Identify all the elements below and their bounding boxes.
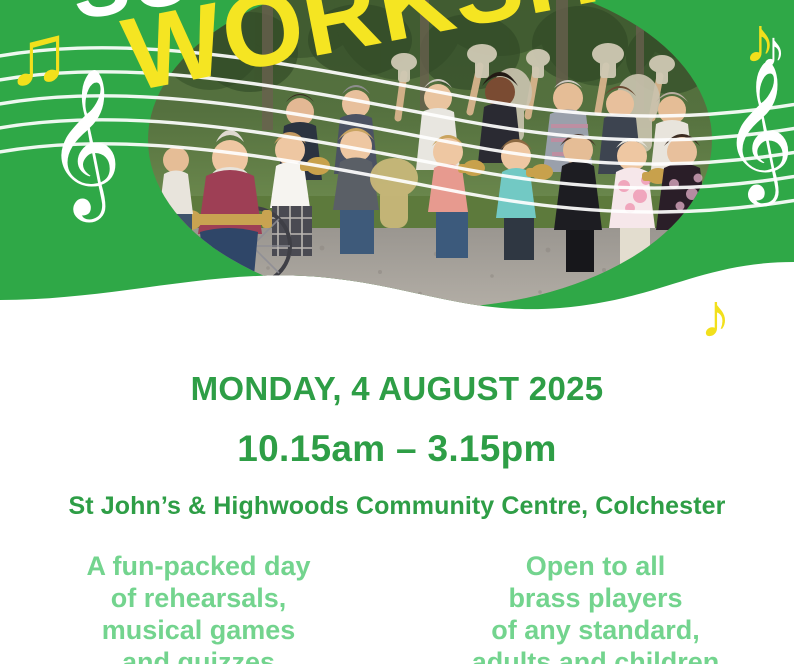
- poster-details: MONDAY, 4 AUGUST 2025 10.15am – 3.15pm S…: [0, 340, 794, 664]
- feature-line: and quizzes: [0, 647, 397, 664]
- feature-line: Open to all: [397, 551, 794, 583]
- event-time: 10.15am – 3.15pm: [0, 428, 794, 470]
- event-venue: St John’s & Highwoods Community Centre, …: [0, 492, 794, 521]
- treble-clef-icon-right: 𝄞: [722, 68, 794, 190]
- green-header-band: SUMMER WORKSHOP ♫ 𝄞 ♪ ♪ 𝄞: [0, 0, 794, 340]
- feature-line: of rehearsals,: [0, 583, 397, 615]
- feature-column-right: Open to all brass players of any standar…: [397, 551, 794, 664]
- treble-clef-icon-left: 𝄞: [46, 78, 122, 206]
- feature-column-left: A fun-packed day of rehearsals, musical …: [0, 551, 397, 664]
- eighth-note-icon-below-wave: ♪: [700, 286, 731, 348]
- feature-line: musical games: [0, 615, 397, 647]
- feature-columns: A fun-packed day of rehearsals, musical …: [0, 551, 794, 664]
- feature-line: adults and children: [397, 647, 794, 664]
- feature-line: of any standard,: [397, 615, 794, 647]
- event-date: MONDAY, 4 AUGUST 2025: [0, 370, 794, 408]
- feature-line: brass players: [397, 583, 794, 615]
- feature-line: A fun-packed day: [0, 551, 397, 583]
- poster-canvas: SUMMER WORKSHOP ♫ 𝄞 ♪ ♪ 𝄞 ♪ MONDAY, 4 AU…: [0, 0, 794, 664]
